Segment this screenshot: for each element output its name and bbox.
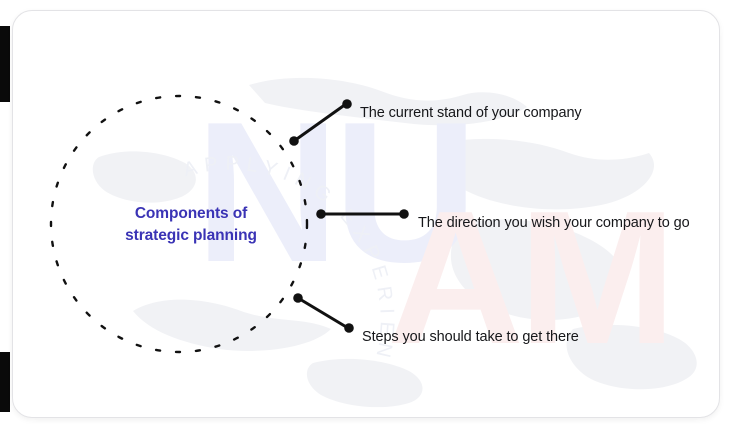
connector-dot-1-inner — [289, 136, 299, 146]
center-title-line-2: strategic planning — [91, 225, 291, 247]
connector-dot-2-outer — [399, 209, 409, 219]
backdrop-strip-bottom — [0, 352, 10, 412]
item-label-2: The direction you wish your company to g… — [418, 215, 690, 231]
backdrop-strip-top — [0, 26, 10, 102]
center-title: Components of strategic planning — [91, 203, 291, 248]
connector-dot-1-outer — [342, 99, 352, 109]
connector-dot-3-inner — [293, 293, 303, 303]
item-label-3: Steps you should take to get there — [362, 329, 579, 345]
connector-dot-3-outer — [344, 323, 354, 333]
connector-line-3 — [298, 298, 348, 328]
connector-line-1 — [294, 104, 346, 141]
item-label-1: The current stand of your company — [360, 105, 582, 121]
connector-dot-2-inner — [316, 209, 326, 219]
center-title-line-1: Components of — [91, 203, 291, 225]
slide-card: NU AM APPLYING EXPERIENCE — [12, 10, 720, 418]
